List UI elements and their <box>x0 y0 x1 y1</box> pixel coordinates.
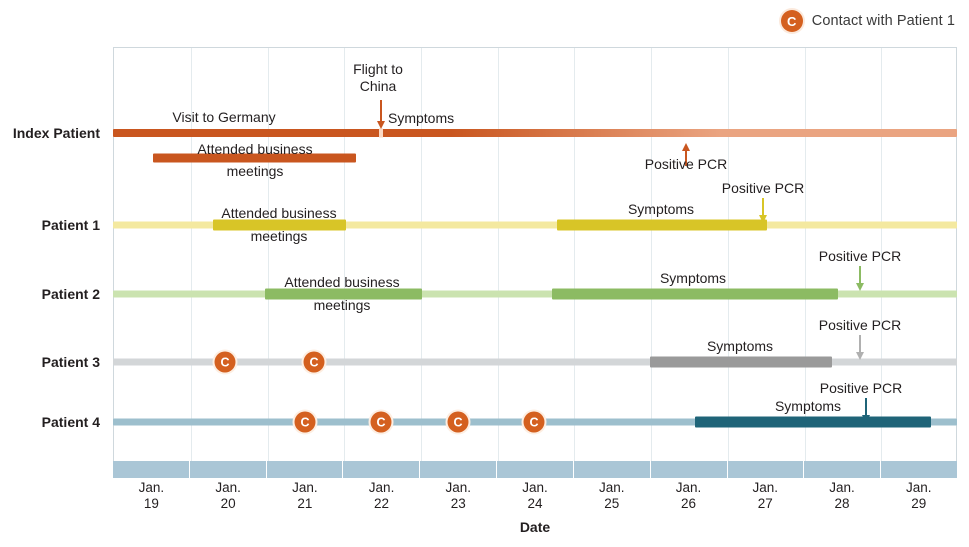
visit-to-germany-label: Visit to Germany <box>172 109 275 126</box>
axis-tick-month: Jan. <box>369 480 395 495</box>
axis-tick-day: 25 <box>604 496 619 511</box>
patient-3-positive-pcr-label: Positive PCR <box>819 317 901 334</box>
row-label-index-patient: Index Patient <box>0 125 100 141</box>
axis-tick-month: Jan. <box>676 480 702 495</box>
axis-tick-month: Jan. <box>829 480 855 495</box>
patient-2-attended-meetings-label-line2: meetings <box>314 297 371 314</box>
patient-2-symptoms-label: Symptoms <box>660 270 726 287</box>
axis-tick-day: 24 <box>528 496 543 511</box>
gridline <box>344 48 345 463</box>
axis-tick-day: 20 <box>221 496 236 511</box>
legend: C Contact with Patient 1 <box>781 10 955 32</box>
axis-tick-day: 23 <box>451 496 466 511</box>
legend-label: Contact with Patient 1 <box>812 13 955 29</box>
axis-tick-day: 22 <box>374 496 389 511</box>
axis-band-cell <box>804 461 881 478</box>
gridline <box>574 48 575 463</box>
axis-band-cell <box>728 461 805 478</box>
axis-tick-month: Jan. <box>215 480 241 495</box>
index-positive-pcr-label: Positive PCR <box>645 156 727 173</box>
patient-2-positive-pcr-label: Positive PCR <box>819 248 901 265</box>
axis-tick-month: Jan. <box>599 480 625 495</box>
axis-tick: Jan.28 <box>804 480 881 511</box>
axis-band-cell <box>190 461 267 478</box>
axis-tick: Jan.19 <box>113 480 190 511</box>
row-label-patient-3: Patient 3 <box>0 354 100 370</box>
axis-tick-labels: Jan.19 Jan.20 Jan.21 Jan.22 Jan.23 Jan.2… <box>113 480 957 511</box>
axis-band-cell <box>343 461 420 478</box>
axis-band-cell <box>420 461 497 478</box>
patient-4-symptoms-label: Symptoms <box>775 398 841 415</box>
index-attended-meetings-label-line2: meetings <box>227 163 284 180</box>
patient-3-symptoms-label: Symptoms <box>707 338 773 355</box>
axis-tick-day: 27 <box>758 496 773 511</box>
patient-2-attended-meetings-label-line1: Attended business <box>284 274 399 291</box>
axis-tick: Jan.24 <box>497 480 574 511</box>
contact-c-icon: C <box>781 10 803 32</box>
patient-3-symptoms-segment <box>650 357 832 368</box>
patient-1-positive-pcr-arrow-icon <box>762 198 764 222</box>
patient-4-contact-marker[interactable]: C <box>524 412 545 433</box>
axis-title: Date <box>113 519 957 535</box>
patient-1-positive-pcr-label: Positive PCR <box>722 180 804 197</box>
axis-band-cell <box>881 461 957 478</box>
flight-to-china-arrow-icon <box>380 100 382 128</box>
axis-tick: Jan.22 <box>343 480 420 511</box>
axis-tick-month: Jan. <box>752 480 778 495</box>
index-symptoms-label: Symptoms <box>388 110 454 127</box>
patient-4-positive-pcr-arrow-icon <box>865 398 867 422</box>
axis-tick: Jan.21 <box>266 480 343 511</box>
row-label-patient-2: Patient 2 <box>0 286 100 302</box>
patient-1-attended-meetings-label-line2: meetings <box>251 228 308 245</box>
axis-tick: Jan.23 <box>420 480 497 511</box>
axis-band-cell <box>267 461 344 478</box>
index-attended-meetings-label-line1: Attended business <box>197 141 312 158</box>
axis-band-cell <box>497 461 574 478</box>
patient-4-contact-marker[interactable]: C <box>371 412 392 433</box>
flight-to-china-label-line1: Flight to <box>353 61 403 78</box>
axis-tick-month: Jan. <box>139 480 165 495</box>
patient-4-positive-pcr-label: Positive PCR <box>820 380 902 397</box>
patient-4-symptoms-segment <box>695 417 931 428</box>
patient-4-contact-marker[interactable]: C <box>295 412 316 433</box>
row-label-patient-1: Patient 1 <box>0 217 100 233</box>
index-patient-baseline <box>113 129 957 137</box>
axis-band-cell <box>113 461 190 478</box>
gridline <box>498 48 499 463</box>
axis-tick-day: 26 <box>681 496 696 511</box>
axis-tick: Jan.25 <box>573 480 650 511</box>
patient-1-symptoms-label: Symptoms <box>628 201 694 218</box>
axis-tick-month: Jan. <box>522 480 548 495</box>
flight-to-china-tickmark <box>379 129 383 138</box>
axis-tick-day: 28 <box>834 496 849 511</box>
axis-band-cell <box>651 461 728 478</box>
axis-tick: Jan.27 <box>727 480 804 511</box>
axis-tick-month: Jan. <box>292 480 318 495</box>
patient-4-contact-marker[interactable]: C <box>448 412 469 433</box>
axis-tick: Jan.29 <box>880 480 957 511</box>
axis-band <box>113 461 957 478</box>
axis-tick-day: 21 <box>297 496 312 511</box>
patient-2-symptoms-segment <box>552 289 838 300</box>
timeline-figure: C Contact with Patient 1 Index Patient P… <box>0 0 969 547</box>
patient-3-contact-marker[interactable]: C <box>304 352 325 373</box>
patient-1-attended-meetings-label-line1: Attended business <box>221 205 336 222</box>
axis-tick: Jan.20 <box>190 480 267 511</box>
gridline <box>728 48 729 463</box>
patient-2-positive-pcr-arrow-icon <box>859 266 861 290</box>
gridline <box>651 48 652 463</box>
axis-tick-month: Jan. <box>906 480 932 495</box>
axis-tick-day: 29 <box>911 496 926 511</box>
axis-tick-month: Jan. <box>446 480 472 495</box>
flight-to-china-label-line2: China <box>360 78 397 95</box>
axis-tick: Jan.26 <box>650 480 727 511</box>
patient-3-positive-pcr-arrow-icon <box>859 335 861 359</box>
row-label-patient-4: Patient 4 <box>0 414 100 430</box>
patient-3-contact-marker[interactable]: C <box>215 352 236 373</box>
axis-band-cell <box>574 461 651 478</box>
patient-1-symptoms-segment <box>557 220 767 231</box>
axis-tick-day: 19 <box>144 496 159 511</box>
